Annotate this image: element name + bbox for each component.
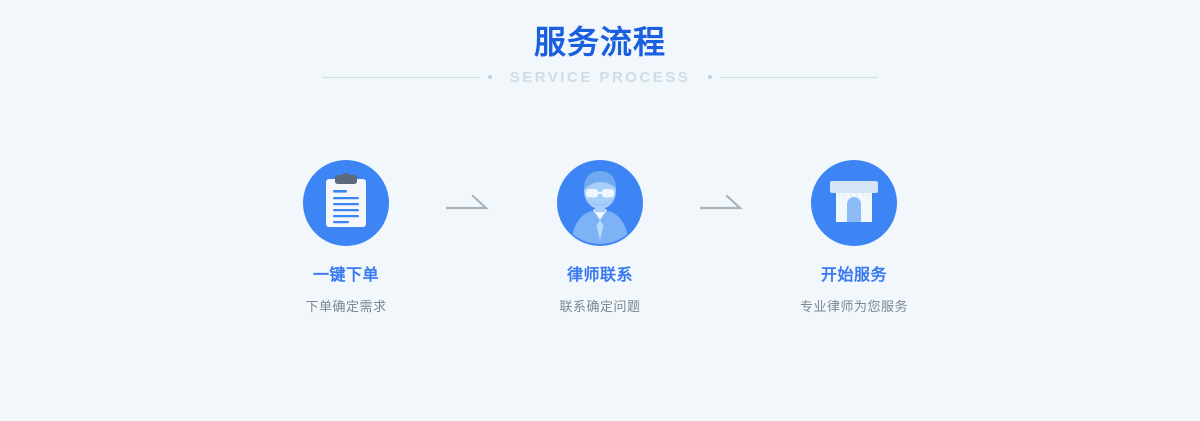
arrow-right-icon-1 [434,160,512,246]
arrow-right-icon-2 [688,160,766,246]
process-step-order[interactable]: 一键下单 下单确定需求 [258,160,434,316]
subtitle-row: SERVICE PROCESS [0,64,1200,90]
process-step-service[interactable]: 开始服务 专业律师为您服务 [766,160,942,316]
storefront-icon [830,178,878,229]
step-description: 下单确定需求 [305,298,386,316]
page-title: 服务流程 [0,22,1200,62]
bottom-divider [0,417,1200,421]
step-icon-circle [557,160,643,246]
step-description: 专业律师为您服务 [800,298,908,316]
step-icon-circle [303,160,389,246]
subtitle-text: SERVICE PROCESS [492,69,709,86]
step-title: 律师联系 [567,266,633,286]
decorative-line-right [708,72,878,82]
step-title: 开始服务 [821,266,887,286]
step-icon-circle [811,160,897,246]
decorative-dot [708,75,712,79]
lawyer-avatar-icon [557,160,643,246]
clipboard-icon [321,173,371,234]
decorative-bar [720,77,878,78]
step-title: 一键下单 [313,266,379,286]
decorative-dot [488,75,492,79]
process-steps: 一键下单 下单确定需求 [0,160,1200,340]
decorative-bar [322,77,480,78]
service-process-section: 服务流程 SERVICE PROCESS [0,0,1200,421]
process-step-contact[interactable]: 律师联系 联系确定问题 [512,160,688,316]
decorative-line-left [322,72,492,82]
step-description: 联系确定问题 [559,298,640,316]
section-header: 服务流程 SERVICE PROCESS [0,0,1200,110]
